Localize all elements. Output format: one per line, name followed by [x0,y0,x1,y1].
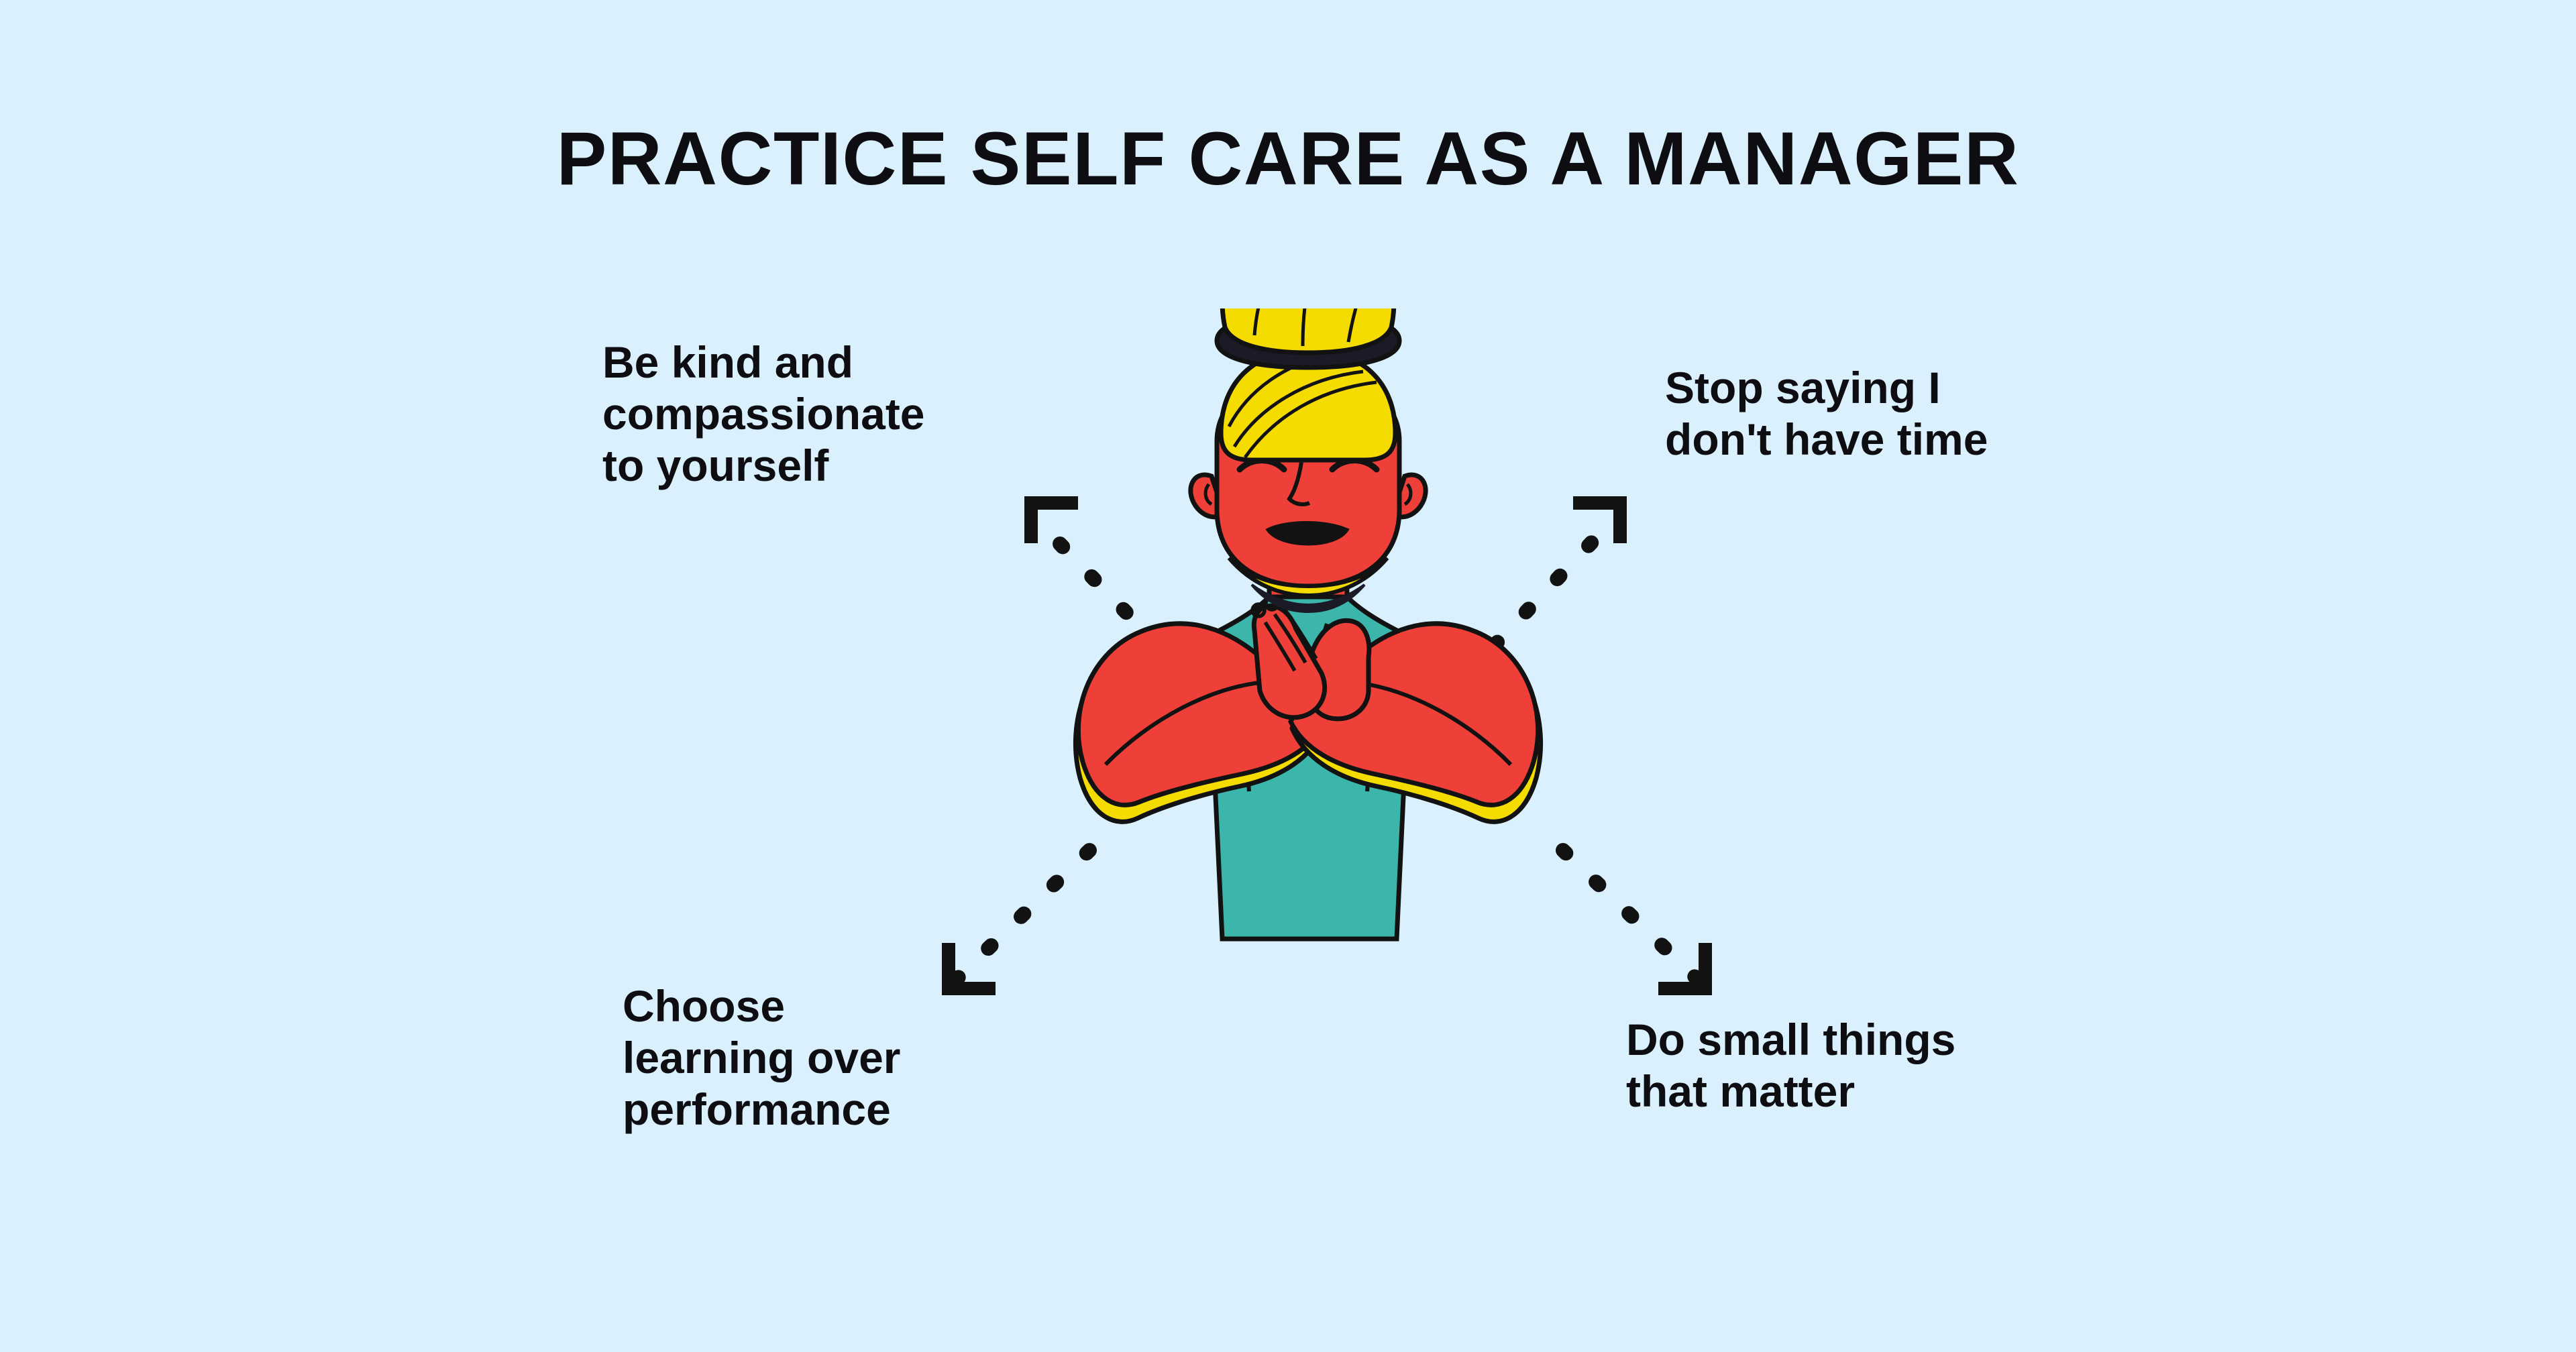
page-title: PRACTICE SELF CARE AS A MANAGER [0,119,2576,199]
callout-label-top-right: Stop saying I don't have time [1665,362,1988,465]
arrowhead-up-right [1580,503,1620,537]
hair-upper-bun [1222,308,1394,353]
arrowhead-down-left [949,950,989,989]
infographic-canvas: PRACTICE SELF CARE AS A MANAGER [0,0,2576,1352]
dotted-arrow-down-right [1563,850,1696,978]
callout-label-bottom-left: Choose learning over performance [623,980,900,1136]
illustration-woman-hands-on-heart [1053,308,1563,952]
callout-label-top-left: Be kind and compassionate to yourself [602,337,925,492]
arrowhead-down-right [1665,950,1705,989]
callout-label-bottom-right: Do small things that matter [1626,1014,1955,1117]
